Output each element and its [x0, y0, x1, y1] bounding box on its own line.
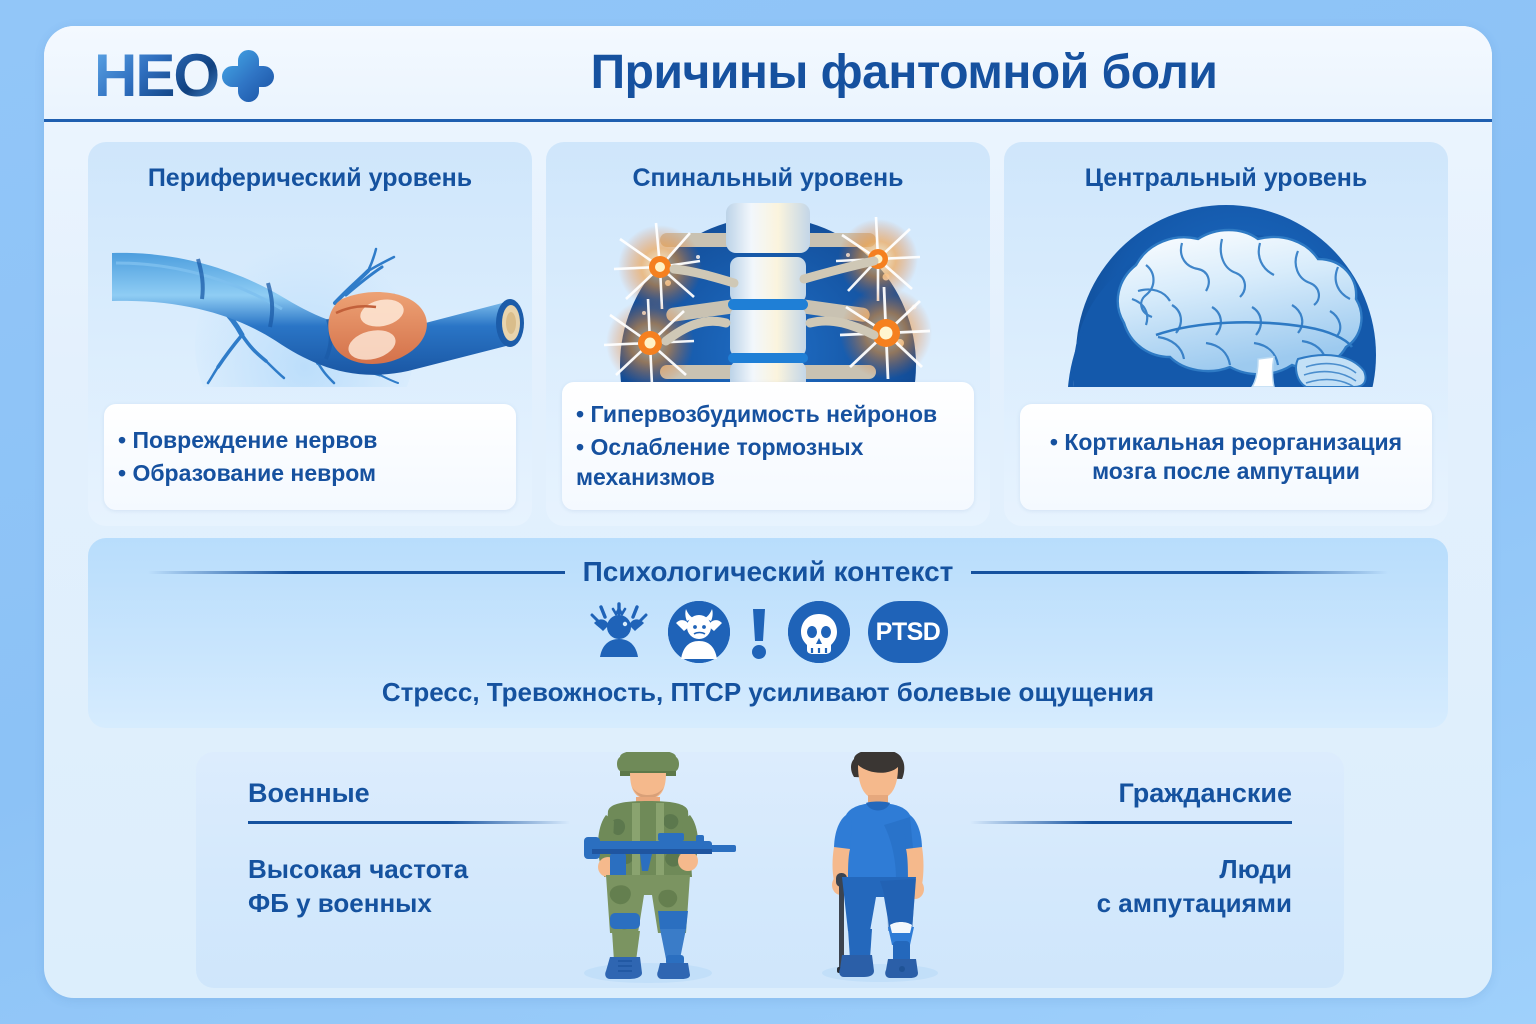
peripheral-art	[88, 195, 532, 387]
page-title: Причины фантомной боли	[374, 26, 1434, 119]
rule-left	[148, 571, 565, 574]
stressed-person-icon	[588, 601, 650, 663]
psy-title: Психологический контекст	[583, 556, 954, 588]
list-item: • Ослабление тормозных механизмов	[576, 433, 960, 492]
group-civilian: Гражданские Люди с ампутациями	[770, 752, 1344, 988]
brain-head-profile-illustration	[1004, 195, 1448, 387]
damaged-nerve-neuroma-illustration	[88, 195, 532, 387]
bullet-text: Гипервозбудимость нейронов	[590, 401, 937, 427]
group-body-line2: ФБ у военных	[248, 886, 570, 920]
group-body-line1: Люди	[970, 852, 1292, 886]
card-central-level: Центральный уровень	[1004, 142, 1448, 526]
group-body: Высокая частота ФБ у военных	[248, 852, 570, 921]
bullet-dot: •	[118, 427, 126, 453]
spinal-art	[546, 195, 990, 387]
group-body-line2: с ампутациями	[970, 886, 1292, 920]
spinal-bullets: • Гипервозбудимость нейронов • Ослаблени…	[562, 382, 974, 510]
card-title: Спинальный уровень	[546, 142, 990, 193]
group-military: Военные Высокая частота ФБ у военных	[196, 752, 770, 988]
card-peripheral-level: Периферический уровень	[88, 142, 532, 526]
skull-icon	[788, 601, 850, 663]
group-body-line1: Высокая частота	[248, 852, 570, 886]
exclamation-icon	[748, 601, 770, 663]
card-spinal-level: Спинальный уровень	[546, 142, 990, 526]
civilian-art	[792, 752, 962, 988]
list-item: • Повреждение нервов	[118, 426, 502, 455]
bullet-dot: •	[1050, 429, 1058, 455]
list-item: • Гипервозбудимость нейронов	[576, 400, 960, 429]
soldier-with-rifle-prosthetic-leg-illustration	[548, 752, 748, 983]
spinal-cord-neurons-illustration	[546, 195, 990, 387]
card-title: Периферический уровень	[88, 142, 532, 193]
civilian-man-cane-prosthetic-leg-illustration	[792, 752, 962, 983]
bullet-text: Ослабление тормозных механизмов	[576, 434, 863, 489]
soldier-art	[548, 752, 748, 988]
bullet-text: Образование невром	[132, 460, 376, 486]
list-item: • Образование невром	[118, 459, 502, 488]
psy-caption: Стресс, Тревожность, ПТСР усиливают боле…	[88, 677, 1448, 708]
divider	[248, 821, 570, 824]
psy-heading-row: Психологический контекст	[88, 538, 1448, 588]
psychological-context-band: Психологический контекст	[88, 538, 1448, 728]
bullet-dot: •	[576, 434, 584, 460]
peripheral-bullets: • Повреждение нервов • Образование невро…	[104, 404, 516, 510]
bullet-text: Повреждение нервов	[132, 427, 377, 453]
anxious-person-icon	[668, 601, 730, 663]
group-body: Люди с ампутациями	[970, 852, 1292, 921]
group-title: Гражданские	[970, 778, 1292, 809]
central-art	[1004, 195, 1448, 387]
bullet-dot: •	[576, 401, 584, 427]
psy-icon-row: PTSD	[88, 601, 1448, 663]
central-bullets: • Кортикальная реорганизация мозга после…	[1020, 404, 1432, 510]
list-item: • Кортикальная реорганизация мозга после…	[1034, 428, 1418, 487]
ptsd-badge-icon: PTSD	[868, 601, 948, 663]
divider	[970, 821, 1292, 824]
group-title: Военные	[248, 778, 570, 809]
header-bar: HEO Причины фантомной боли	[44, 26, 1492, 122]
brand-name: HEO	[94, 46, 218, 106]
population-groups: Военные Высокая частота ФБ у военных	[196, 752, 1344, 988]
main-panel: HEO Причины фантомной боли Периферически…	[44, 26, 1492, 998]
levels-row: Периферический уровень	[88, 142, 1448, 526]
infographic-canvas: HEO Причины фантомной боли Периферически…	[0, 0, 1536, 1024]
brand-logo: HEO	[94, 48, 274, 104]
bullet-dot: •	[118, 460, 126, 486]
ptsd-label: PTSD	[876, 618, 941, 647]
rule-right	[971, 571, 1388, 574]
bullet-text: Кортикальная реорганизация мозга после а…	[1064, 429, 1402, 484]
plus-icon	[222, 50, 274, 102]
card-title: Центральный уровень	[1004, 142, 1448, 193]
